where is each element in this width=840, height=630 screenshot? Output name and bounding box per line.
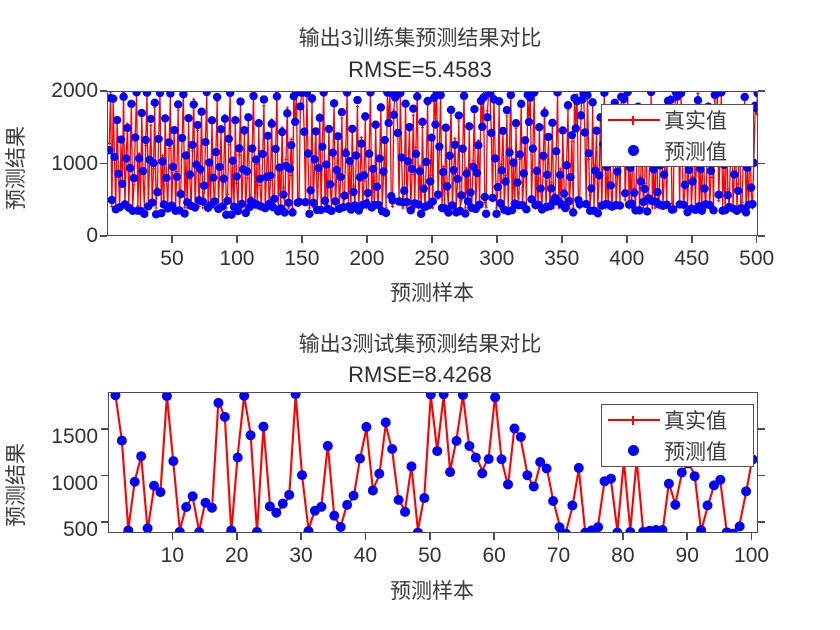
xtick-label: 80: [611, 544, 634, 568]
xtick-label: 10: [161, 544, 184, 568]
circle-marker-icon: [628, 445, 639, 456]
legend-label-true: 真实值: [664, 405, 734, 435]
legend-swatch-pred-dot: [602, 436, 664, 467]
xtick-mark: [172, 533, 174, 540]
xtick-mark: [496, 236, 498, 243]
legend-row-pred: 预测值: [602, 436, 753, 467]
legend-row-true: 真实值: [602, 105, 753, 136]
xtick-mark: [431, 236, 433, 243]
xtick-label: 70: [547, 544, 570, 568]
ylabel-test: 预测结果: [0, 430, 30, 540]
xtick-mark: [429, 533, 431, 540]
xtick-mark: [236, 533, 238, 540]
xtick-mark: [171, 236, 173, 243]
ytick-mark: [100, 90, 107, 92]
circle-marker-icon: [628, 145, 639, 156]
legend-test[interactable]: 真实值 预测值: [601, 404, 754, 467]
xtick-mark: [756, 236, 758, 243]
xtick-label: 150: [284, 247, 319, 271]
xtick-mark: [751, 533, 753, 540]
xtick-mark: [365, 533, 367, 540]
legend-label-true: 真实值: [664, 105, 734, 135]
xlabel-training: 预测样本: [390, 277, 474, 307]
xtick-label: 90: [676, 544, 699, 568]
plus-marker-icon: [629, 116, 638, 125]
ytick-mark: [101, 521, 108, 523]
xtick-mark: [558, 533, 560, 540]
legend-label-pred: 预测值: [664, 436, 734, 466]
legend-swatch-pred-dot: [602, 136, 664, 167]
legend-swatch-true-line: [602, 405, 664, 436]
xtick-mark: [366, 236, 368, 243]
matlab-figure: 输出3训练集预测结果对比 RMSE=5.4583 2000 1000 0 预测结…: [0, 0, 840, 630]
ytick-mark: [758, 163, 765, 165]
xtick-label: 400: [609, 247, 644, 271]
ytick-mark: [758, 90, 765, 92]
xtick-mark: [493, 533, 495, 540]
xtick-mark: [561, 236, 563, 243]
plus-marker-icon: [629, 416, 638, 425]
ytick-mark: [758, 428, 765, 430]
legend-label-pred: 预测值: [664, 136, 734, 166]
ytick-label-training-2000: 2000: [0, 79, 98, 103]
ylabel-training: 预测结果: [0, 113, 30, 223]
ytick-mark: [100, 235, 107, 237]
xtick-label: 40: [354, 544, 377, 568]
xtick-label: 350: [544, 247, 579, 271]
xtick-label: 20: [225, 544, 248, 568]
legend-row-pred: 预测值: [602, 136, 753, 167]
xtick-label: 30: [289, 544, 312, 568]
chart-subtitle-training-rmse: RMSE=5.4583: [0, 57, 840, 83]
ytick-mark: [101, 428, 108, 430]
xtick-mark: [300, 533, 302, 540]
legend-swatch-true-line: [602, 105, 664, 136]
xtick-label: 50: [418, 544, 441, 568]
chart-panel-training: 输出3训练集预测结果对比 RMSE=5.4583 2000 1000 0 预测结…: [0, 0, 840, 310]
xtick-mark: [236, 236, 238, 243]
chart-subtitle-test-rmse: RMSE=8.4268: [0, 362, 840, 388]
xlabel-test: 预测样本: [390, 575, 474, 605]
ytick-mark: [758, 521, 765, 523]
xtick-label: 200: [349, 247, 384, 271]
ytick-label-training-0: 0: [0, 224, 98, 248]
xtick-mark: [622, 533, 624, 540]
xtick-mark: [691, 236, 693, 243]
xtick-mark: [686, 533, 688, 540]
chart-title-training: 输出3训练集预测结果对比: [0, 22, 840, 52]
legend-training[interactable]: 真实值 预测值: [601, 104, 754, 167]
xtick-label: 450: [674, 247, 709, 271]
ytick-mark: [101, 475, 108, 477]
ytick-mark: [758, 475, 765, 477]
ytick-mark: [100, 163, 107, 165]
xtick-label: 100: [734, 544, 769, 568]
xtick-label: 250: [414, 247, 449, 271]
chart-title-test: 输出3测试集预测结果对比: [0, 328, 840, 358]
xtick-label: 100: [219, 247, 254, 271]
ytick-mark: [758, 235, 765, 237]
chart-panel-test: 输出3测试集预测结果对比 RMSE=8.4268 1500 1000 500 预…: [0, 310, 840, 630]
xtick-label: 500: [739, 247, 774, 271]
xtick-label: 300: [479, 247, 514, 271]
xtick-mark: [301, 236, 303, 243]
xtick-label: 60: [482, 544, 505, 568]
xtick-label: 50: [160, 247, 183, 271]
legend-row-true: 真实值: [602, 405, 753, 436]
xtick-mark: [626, 236, 628, 243]
